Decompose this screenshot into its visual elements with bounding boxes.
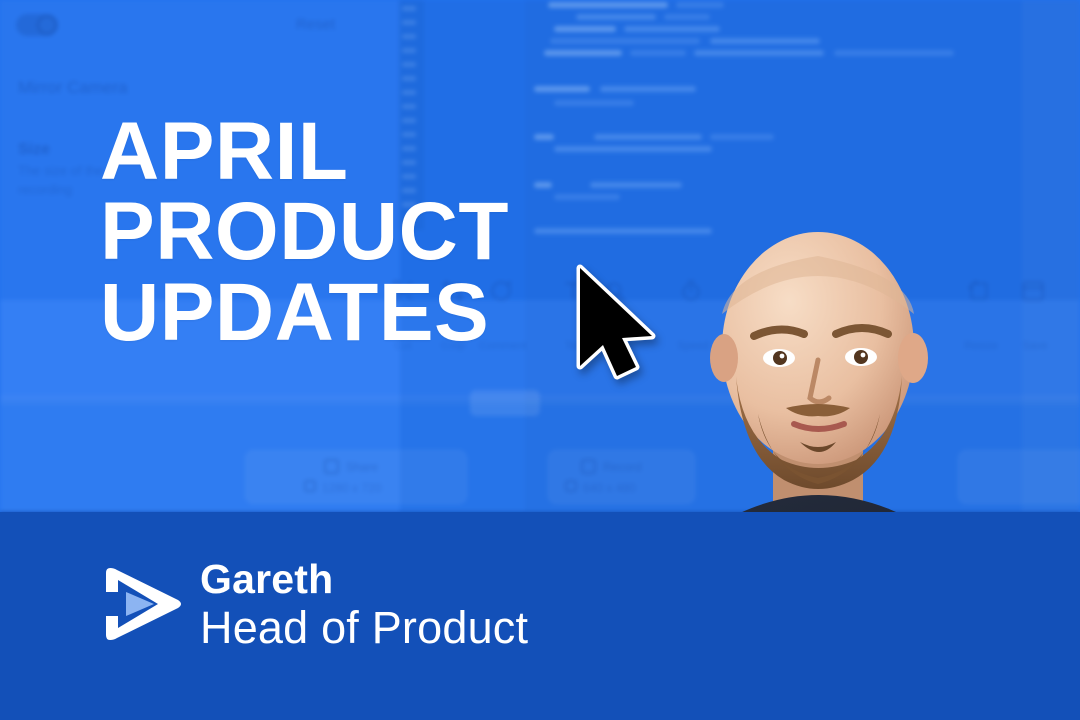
presenter-name: Gareth xyxy=(200,558,528,601)
share-icon xyxy=(324,459,339,474)
video-thumbnail-frame: Reset Mirror Camera Size The size of the… xyxy=(0,0,1080,720)
mirror-camera-toggle[interactable] xyxy=(16,14,58,36)
title-line-2: PRODUCT xyxy=(100,192,509,272)
gutter-line-number xyxy=(402,76,416,81)
gutter-line-number xyxy=(402,48,416,53)
export-card-subtitle: 1280 x 720 xyxy=(322,481,381,495)
record-icon xyxy=(581,459,596,474)
gutter-line-number xyxy=(402,90,416,95)
lower-third-content: Gareth Head of Product xyxy=(0,512,700,720)
resolution-icon xyxy=(304,480,316,492)
title-line-3: UPDATES xyxy=(100,273,509,353)
bg-center-pill xyxy=(470,390,540,416)
gutter-line-number xyxy=(402,6,416,11)
reset-button-label[interactable]: Reset xyxy=(296,17,335,32)
presenter-role: Head of Product xyxy=(200,603,528,653)
gutter-line-number xyxy=(402,20,416,25)
play-triangle-logo xyxy=(96,558,188,650)
arrow-cursor-icon xyxy=(572,262,672,380)
size-help-line-1: The size of the xyxy=(18,164,103,177)
export-card-title: Share xyxy=(346,460,378,474)
mirror-camera-label: Mirror Camera xyxy=(18,79,128,96)
code-editor-lines xyxy=(534,0,1004,230)
title-line-1: APRIL xyxy=(100,112,509,192)
export-card[interactable]: Share 1280 x 720 xyxy=(245,450,467,504)
page-title: APRIL PRODUCT UPDATES xyxy=(100,112,509,353)
size-section-label: Size xyxy=(18,142,50,158)
gutter-line-number xyxy=(402,34,416,39)
resolution-icon xyxy=(565,480,577,492)
gutter-line-number xyxy=(402,62,416,67)
size-help-line-2: recording xyxy=(18,183,72,196)
gutter-line-number xyxy=(402,104,416,109)
presenter-identity: Gareth Head of Product xyxy=(200,558,528,653)
